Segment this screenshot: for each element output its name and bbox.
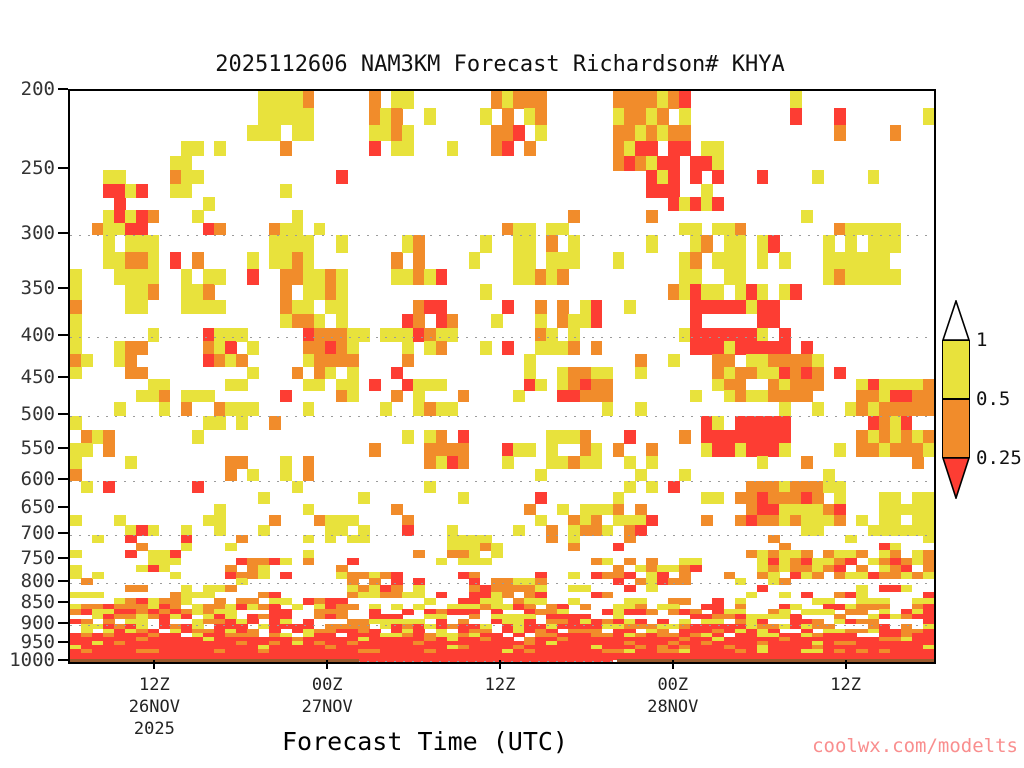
x-tick-label: 00Z27NOV [302, 674, 353, 718]
colorbar-tick-label: 1 [976, 329, 987, 351]
x-tick-mark [672, 660, 674, 669]
y-tick-mark [58, 641, 68, 643]
plot-frame [68, 89, 936, 664]
y-tick-label: 350 [21, 277, 55, 299]
x-tick-line-1: 12Z [485, 674, 516, 696]
y-tick-mark [58, 88, 68, 90]
y-tick-mark [58, 376, 68, 378]
y-tick-mark [58, 659, 68, 661]
y-tick-label: 200 [21, 78, 55, 100]
colorbar: 10.50.25 [940, 300, 1024, 560]
y-tick-mark [58, 334, 68, 336]
x-tick-mark [153, 660, 155, 669]
x-tick-line-2: 28NOV [647, 696, 698, 718]
y-tick-mark [58, 622, 68, 624]
y-tick-mark [58, 232, 68, 234]
y-tick-label: 250 [21, 157, 55, 179]
colorbar-extend-bottom-icon [942, 457, 970, 497]
colorbar-top-arrow-icon [942, 300, 970, 341]
x-tick-line-2: 27NOV [302, 696, 353, 718]
y-tick-label: 550 [21, 437, 55, 459]
colorbar-bottom-arrow-icon [942, 457, 970, 499]
x-tick-label: 12Z [485, 674, 516, 696]
colorbar-segment-orange [942, 399, 970, 458]
colorbar-body [942, 340, 970, 458]
y-tick-label: 850 [21, 591, 55, 613]
x-tick-mark [845, 660, 847, 669]
y-tick-mark [58, 580, 68, 582]
y-tick-mark [58, 532, 68, 534]
terrain-layer [70, 91, 934, 662]
x-tick-line-1: 12Z [830, 674, 861, 696]
x-axis-title: Forecast Time (UTC) [0, 727, 850, 756]
x-tick-line-2: 26NOV [129, 696, 180, 718]
x-tick-mark [326, 660, 328, 669]
y-axis: 2002503003504004505005506006507007508008… [0, 89, 68, 660]
colorbar-tick-label: 0.5 [976, 388, 1010, 410]
colorbar-segment-yellow [942, 340, 970, 399]
chart-root: 2025112606 NAM3KM Forecast Richardson# K… [0, 0, 1024, 768]
watermark: coolwx.com/modelts [812, 735, 1018, 757]
y-tick-label: 700 [21, 522, 55, 544]
x-tick-mark [499, 660, 501, 669]
y-tick-label: 600 [21, 468, 55, 490]
plot-area [70, 91, 934, 662]
y-tick-mark [58, 478, 68, 480]
x-tick-line-1: 00Z [302, 674, 353, 696]
y-tick-label: 750 [21, 547, 55, 569]
y-tick-mark [58, 506, 68, 508]
y-tick-mark [58, 601, 68, 603]
y-tick-mark [58, 447, 68, 449]
chart-title-text: 2025112606 NAM3KM Forecast Richardson# K… [215, 52, 785, 77]
x-tick-line-1: 12Z [129, 674, 180, 696]
y-tick-label: 500 [21, 403, 55, 425]
y-tick-label: 450 [21, 366, 55, 388]
y-tick-label: 300 [21, 222, 55, 244]
colorbar-tick-label: 0.25 [976, 447, 1022, 469]
x-tick-line-1: 00Z [647, 674, 698, 696]
page-title: 2025112606 NAM3KM Forecast Richardson# K… [0, 52, 1024, 77]
y-tick-label: 400 [21, 324, 55, 346]
y-tick-mark [58, 287, 68, 289]
y-tick-label: 1000 [9, 649, 55, 671]
y-tick-mark [58, 557, 68, 559]
x-tick-label: 00Z28NOV [647, 674, 698, 718]
y-tick-mark [58, 167, 68, 169]
y-tick-mark [58, 413, 68, 415]
y-tick-label: 800 [21, 570, 55, 592]
y-tick-label: 650 [21, 496, 55, 518]
colorbar-extend-top-icon [942, 300, 970, 340]
x-tick-label: 12Z [830, 674, 861, 696]
